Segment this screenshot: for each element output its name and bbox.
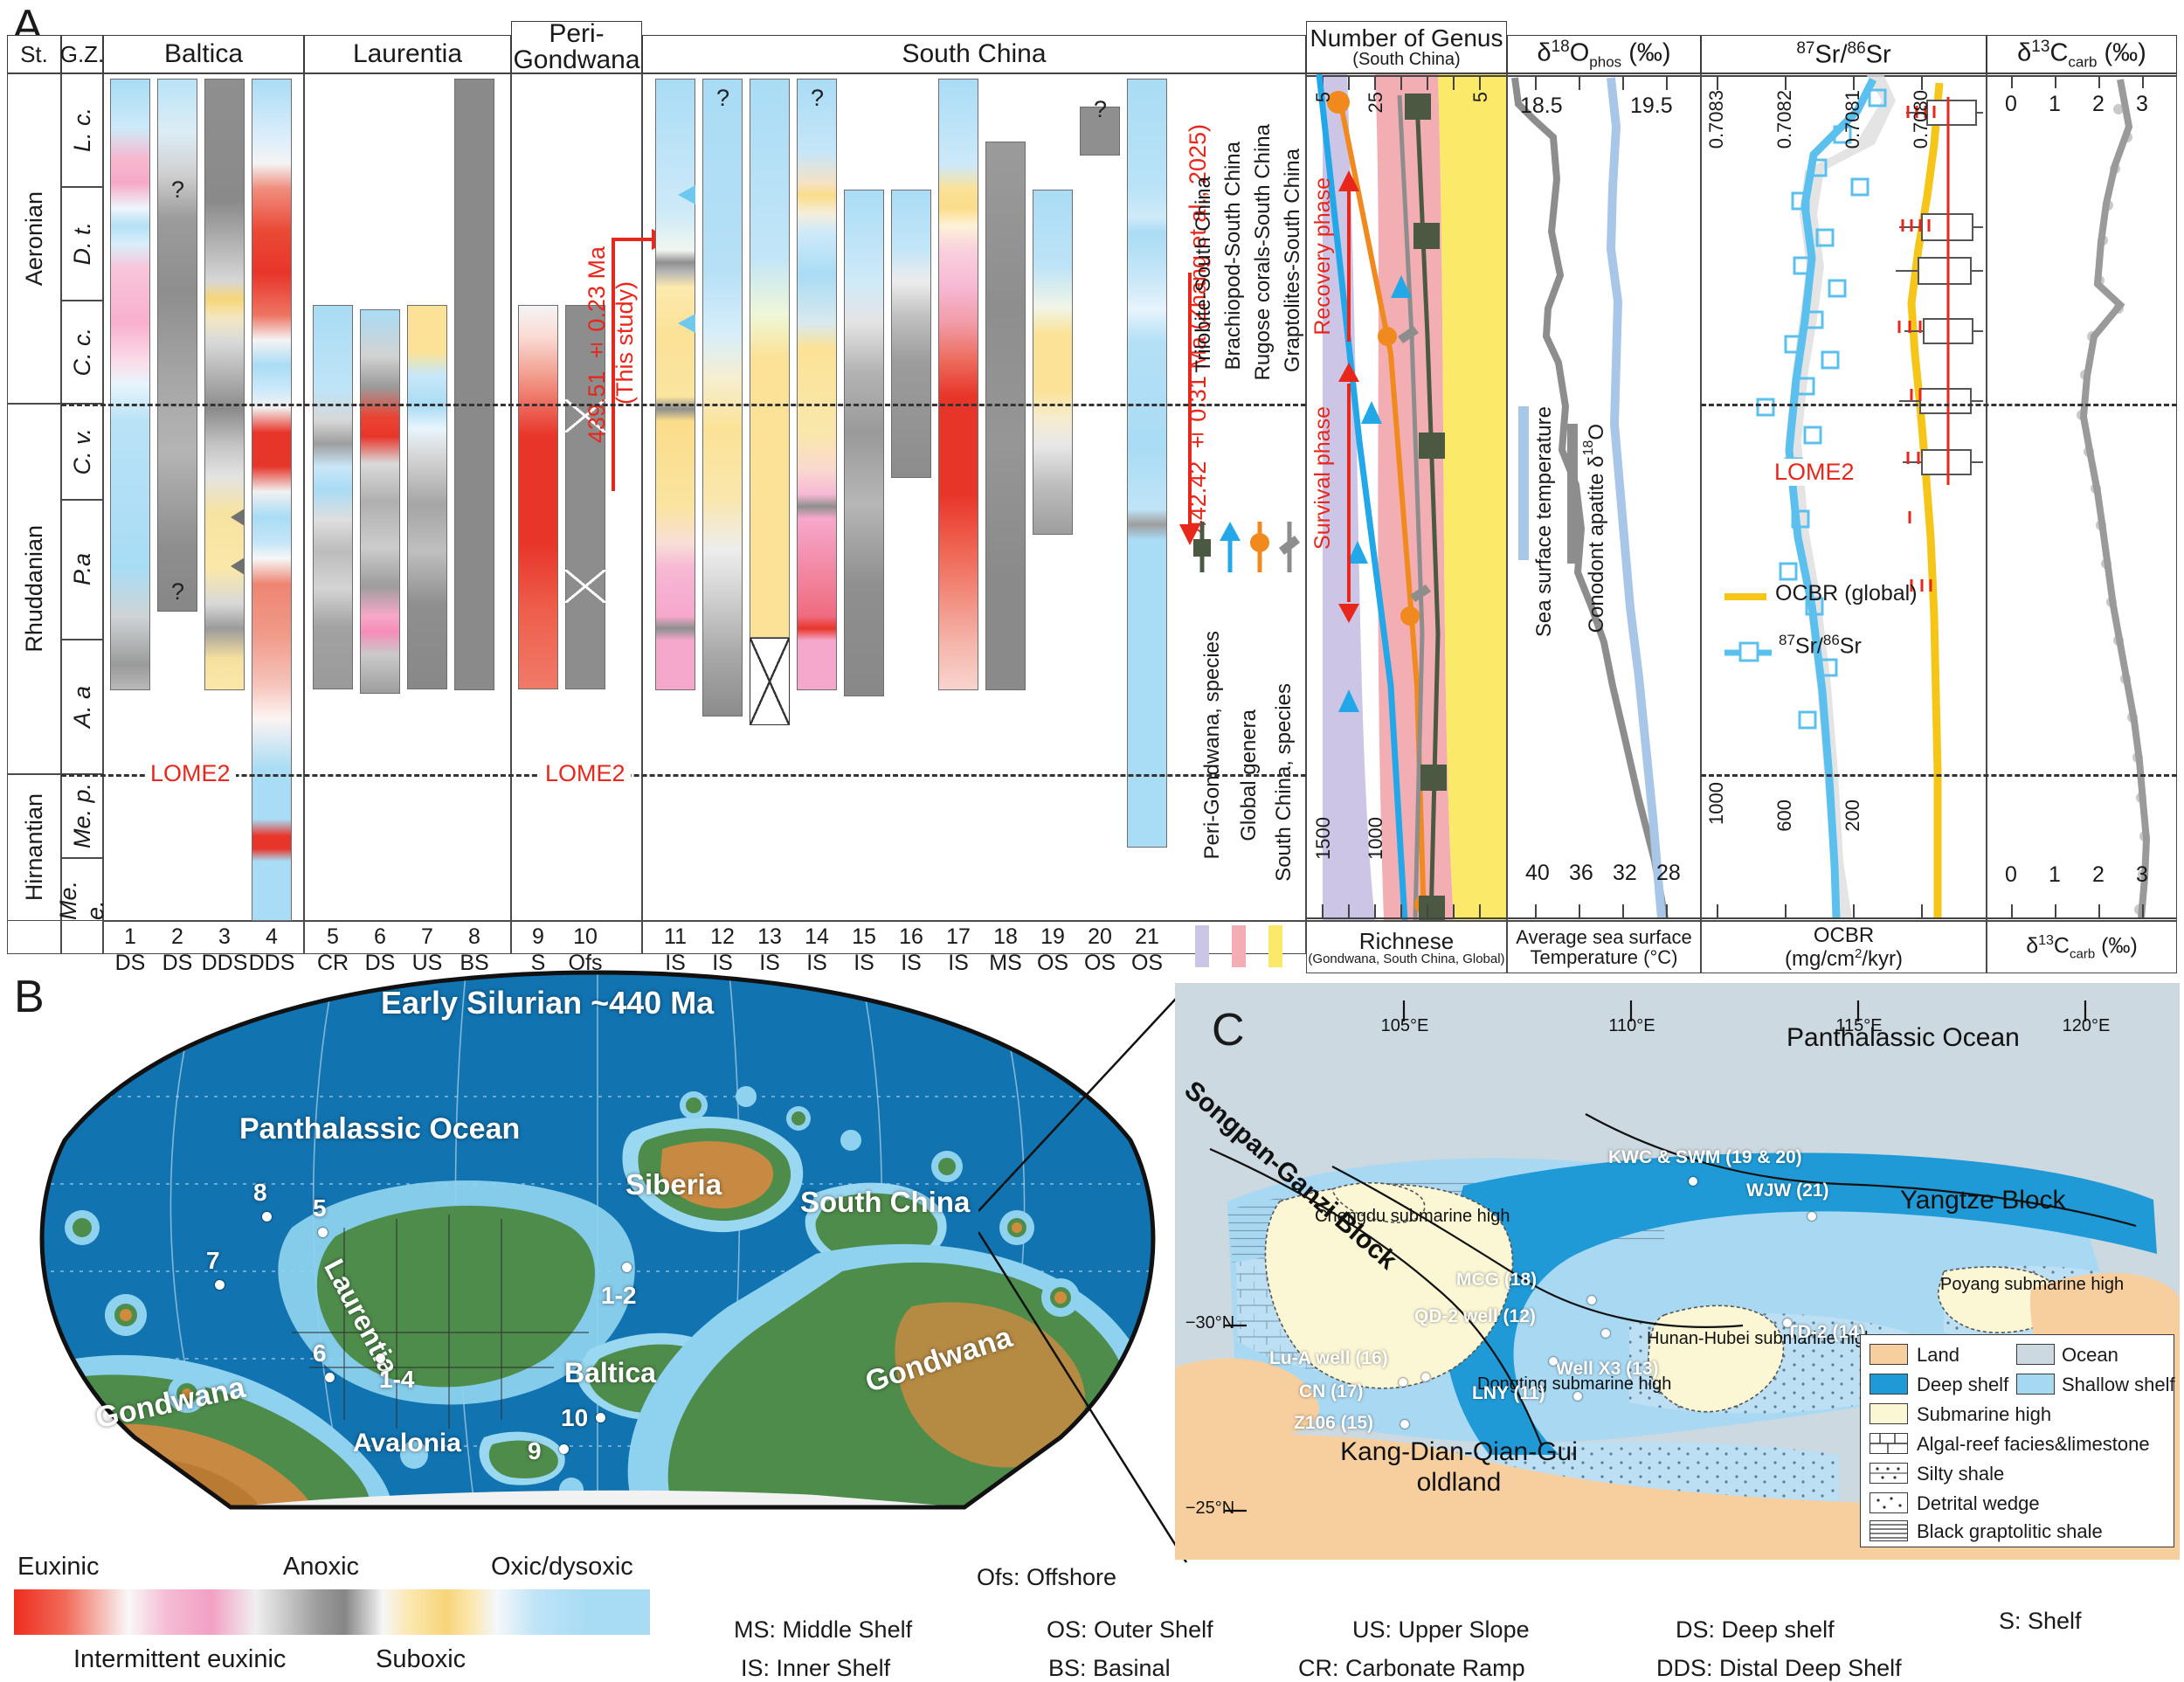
header-peri-gondwana-line2: Gondwana [513,47,639,73]
stage-cell-hirnantian: Hirnantian [7,774,61,921]
d13c-title-text: δ13Ccarb (‰) [2017,38,2146,71]
legend-swatch-ocean [2016,1344,2055,1365]
stage-label-aeronian: Aeronian [21,191,48,286]
strip-col-16 [891,190,931,478]
sr-tick-bottom-3: 200 [1842,799,1864,832]
strip-col-19 [1033,190,1073,535]
redox-legend-label-intermittent: Intermittent euxinic [73,1645,286,1674]
d13c-tick-top-4: 3 [2136,92,2148,117]
footer-abbrev-cr: CR: Carbonate Ramp [1298,1655,1525,1682]
strip-col-18 [985,142,1026,690]
panel-c-label: C [1212,1004,1245,1056]
legend-swatch-shallow-shelf [2016,1374,2055,1395]
site-label-wellx3: Well X3 (13) [1556,1359,1659,1380]
d13c-tick-bottom-2: 1 [2049,862,2061,888]
d18o-title-text: δ18Ophos (‰) [1537,38,1670,71]
map-label-avalonia: Avalonia [353,1429,461,1458]
map-site-number-1-4: 1-4 [379,1366,414,1394]
cross-marker-col13 [750,638,790,725]
d13c-chart: 0 1 2 3 0 1 2 3 [1987,74,2176,920]
d13c-tick-top-3: 2 [2092,92,2105,117]
zone-label-dt: D. t. [69,222,96,266]
legend-label-ocean: Ocean [2062,1344,2118,1367]
site-label-wjw: WJW (21) [1746,1180,1829,1201]
sr-tick-top-1: 0.7083 [1705,90,1728,149]
richness-band-swatch-global [1232,925,1246,967]
block-label-yangtze: Yangtze Block [1900,1186,2066,1215]
arrow-marker-col3-a [231,509,245,526]
genus-chart: 5 25 5 1500 1000 Recovery phase Survival… [1307,74,1506,920]
site-label-z106: Z106 (15) [1294,1413,1373,1434]
zone-cell-dt: D. t. [61,187,103,301]
column-number-19: 19 [1033,924,1073,950]
zone-cell-mee: Me. e. [61,858,103,921]
legend-label-algal-reef: Algal-reef facies&limestone [1917,1433,2150,1456]
cross-marker-col10-b [565,570,605,603]
sr-legend-swatch-ocbr [1724,593,1766,600]
map-label-siberia: Siberia [625,1168,722,1201]
zone-label-cc: C. c. [69,328,96,377]
column-number-20: 20 [1080,924,1120,950]
question-mark-col12: ? [716,85,729,112]
high-label-poyang: Poyang submarine high [1940,1275,2084,1295]
site-label-kwc-swm: KWC & SWM (19 & 20) [1608,1147,1802,1168]
lon-tick-120e: 120°E [2047,1016,2125,1036]
column-number-10: 10 [565,924,605,950]
legend-label-land: Land [1917,1344,1959,1367]
sr-tick-top-3: 0.7081 [1842,90,1864,149]
strip-col-11 [655,79,695,690]
map-label-panthalassic: Panthalassic Ocean [239,1112,520,1146]
sr-tick-bottom-1: 1000 [1705,782,1728,825]
column-number-15: 15 [844,924,884,950]
legend-swatch-land [1870,1344,1908,1365]
column-number-6: 6 [360,924,400,950]
strip-col-7 [407,305,447,689]
strip-col-5 [313,305,353,689]
genus-tick-top-2: 25 [1365,92,1387,113]
lome2-label-sr: LOME2 [1770,459,1859,486]
legend-swatch-black-graptolitic-shale [1870,1520,1908,1541]
high-label-hunan-hubei: Hunan-Hubei submarine high [1647,1329,1800,1349]
zone-cell-pa: P.a [61,500,103,640]
sr-legend-label-ocbr: OCBR (global) [1775,581,1918,606]
legend-label-black-graptolitic-shale: Black graptolitic shale [1917,1520,2103,1543]
d18o-tick-bottom-1: 40 [1525,861,1550,886]
trilobite-marker-icon [1190,522,1214,574]
recovery-phase-label: Recovery phase [1310,177,1336,336]
genus-tick-top-3: 5 [1469,92,1492,102]
map-site-number-7: 7 [206,1247,220,1275]
panel-a: A St. G.Z. Baltica Laurentia Peri- Gondw… [7,19,2177,954]
redox-legend-label-anoxic: Anoxic [283,1553,359,1582]
header-baltica: Baltica [103,35,304,73]
header-laurentia: Laurentia [304,35,511,73]
strip-col-12 [702,79,743,716]
legend-swatch-submarine-high [1870,1403,1908,1424]
column-number-9: 9 [518,924,558,950]
genus-tick-bottom-1: 1500 [1312,817,1335,860]
footer-abbrev-ds: DS: Deep shelf [1676,1616,1835,1644]
site-dot-cn [1399,1378,1407,1387]
footer-cell-richness: Richnese (Gondwana, South China, Global) [1306,921,1507,973]
strip-col-9 [518,305,558,689]
map-site-dot-1-4 [376,1353,385,1363]
legend-swatch-deep-shelf [1870,1374,1908,1395]
panel-c-legend: Land Ocean Deep shelf Shallow shelf Subm… [1860,1334,2174,1547]
zone-label-pa: P.a [69,553,96,585]
legend-swatch-algal-reef [1870,1433,1908,1454]
sr-legend-marker-icon [1724,640,1772,665]
temp-label-l2: Temperature (°C) [1531,947,1678,967]
footer-abbrev-bs: BS: Basinal [1048,1655,1171,1682]
triangle-marker-col11-b [678,314,695,333]
stage-cell-blank [7,921,61,954]
strip-col-14 [797,79,837,690]
d13c-footer-text: δ13Ccarb (‰) [2026,933,2138,961]
correlation-line-lome2-right [1701,774,2177,777]
site-dot-kwc-swm [1689,1177,1697,1186]
richness-band-label-perigondwana: Peri-Gondwana, species [1200,631,1225,859]
header-sr: 87Sr/86Sr [1701,35,1987,73]
survival-phase-arrow [1331,363,1366,625]
d18o-tick-top-1: 18.5 [1520,93,1563,119]
map-site-number-8: 8 [253,1179,267,1207]
genus-legend-label-rugose: Rugose corals-South China [1251,124,1275,381]
footer-offshore: Ofs: Offshore [977,1564,1116,1591]
d18o-legend-label-conodont: Conodont apatite δ18O [1581,424,1609,633]
strip-col-21 [1127,79,1167,848]
footer-cell-temperature: Average sea surface Temperature (°C) [1507,921,1701,973]
stage-cell-rhuddanian: Rhuddanian [7,404,61,774]
map-site-dot-7 [215,1280,225,1290]
sr-tick-top-2: 0.7082 [1773,90,1796,149]
strip-col-2 [157,79,197,612]
temp-label-l1: Average sea surface [1516,927,1691,947]
map-site-dot-1-2 [622,1263,632,1272]
legend-label-shallow-shelf: Shallow shelf [2062,1374,2175,1396]
correlation-line-cv [61,404,1306,406]
arrow-marker-col3-b [231,557,245,575]
footer-abbrev-is: IS: Inner Shelf [741,1655,890,1682]
sr-title-text: 87Sr/86Sr [1796,39,1890,70]
sr-tick-bottom-2: 600 [1773,799,1796,832]
richness-band-label-southchina: South China, species [1272,683,1296,882]
strip-col-4 [252,79,292,921]
map-label-baltica: Baltica [564,1357,656,1389]
brachiopod-marker-icon [1218,522,1242,574]
site-label-lny: LNY (11) [1472,1383,1545,1404]
strip-col-13 [750,79,790,638]
map-site-number-6: 6 [313,1339,327,1367]
age-label-this-study: 439.51 ± 0.23 Ma [584,246,611,443]
richness-band-swatch-perigondwana [1195,925,1209,967]
strip-col-8 [454,79,494,690]
question-mark-col14: ? [811,85,824,112]
zone-cell-blank [61,921,103,954]
redox-legend-label-oxic: Oxic/dysoxic [491,1553,633,1582]
lome2-label-baltica: LOME2 [145,760,236,787]
site-dot-lny [1573,1392,1582,1401]
survival-phase-label: Survival phase [1310,406,1336,550]
map-site-dot-10 [596,1413,605,1422]
column-number-11: 11 [655,924,695,950]
sr-tick-top-4: 0.7080 [1910,90,1932,149]
ocbr-label-l1: OCBR [1814,924,1874,946]
redox-color-bar [14,1589,650,1635]
graptolite-marker-icon [1277,522,1302,574]
zone-label-cv: C. v. [69,428,96,475]
lon-tick-105e: 105°E [1365,1016,1444,1036]
column-number-1: 1 [110,924,150,950]
site-label-mcg: MCG (18) [1456,1270,1537,1291]
map-site-number-5: 5 [313,1194,327,1222]
map-label-south-china: South China [800,1186,970,1219]
map-site-number-10: 10 [561,1404,588,1432]
lon-tick-110e: 110°E [1593,1016,1671,1036]
header-stage: St. [7,35,61,73]
d13c-tick-top-2: 1 [2049,92,2061,117]
site-label-cn: CN (17) [1299,1381,1364,1402]
site-dot-td2 [1783,1319,1792,1327]
column-number-8: 8 [454,924,494,950]
legend-swatch-silty-shale [1870,1463,1908,1484]
lat-tick-25n: −25°N [1168,1499,1252,1519]
legend-label-submarine-high: Submarine high [1917,1403,2051,1426]
header-d13c: δ13Ccarb (‰) [1987,35,2177,73]
question-mark-col20: ? [1094,96,1107,123]
header-d18o: δ18Ophos (‰) [1507,35,1701,73]
zone-cell-cv: C. v. [61,404,103,500]
genus-title: Number of Genus [1310,26,1503,51]
footer-abbrev-s: S: Shelf [1999,1608,2082,1635]
site-label-td2: TD-2 (14) [1787,1322,1865,1343]
map-site-number-9: 9 [528,1437,542,1465]
sr-legend-label-srsr: 87Sr/86Sr [1779,632,1862,659]
sr-chart: 0.7083 0.7082 0.7081 0.7080 1000 600 200… [1702,74,1986,920]
header-peri-gondwana: Peri- Gondwana [511,21,642,73]
column-number-13: 13 [750,924,790,950]
strip-col-6 [360,309,400,694]
map-site-dot-8 [262,1212,272,1222]
strip-col-1 [110,79,150,690]
column-number-5: 5 [313,924,353,950]
zone-label-mee: Me. e. [55,859,109,920]
footer-abbrev-os: OS: Outer Shelf [1047,1616,1213,1644]
column-number-18: 18 [985,924,1026,950]
column-number-3: 3 [204,924,245,950]
genus-legend-label-trilobite: Trilobite-South China [1192,177,1216,373]
site-dot-z106 [1400,1420,1409,1429]
d18o-legend-label-sst: Sea surface temperature [1532,406,1557,637]
d13c-tick-top-1: 0 [2005,92,2017,117]
legend-label-detrital-wedge: Detrital wedge [1917,1492,2040,1515]
question-mark-col2-bottom: ? [171,578,184,606]
footer-abbrev-ms: MS: Middle Shelf [734,1616,912,1644]
lat-tick-30n: −30°N [1168,1313,1252,1333]
footer-cell-d13c: δ13Ccarb (‰) [1987,921,2177,973]
richness-band-swatch-southchina [1268,925,1282,967]
column-number-4: 4 [252,924,292,950]
legend-label-silty-shale: Silty shale [1917,1463,2004,1485]
d18o-legend-swatch-conodont [1567,424,1578,564]
column-number-12: 12 [702,924,743,950]
zone-cell-lc: L. c. [61,73,103,187]
zone-cell-mep: Me. p. [61,774,103,858]
richness-label: Richnese [1359,930,1454,952]
column-number-2: 2 [157,924,197,950]
lome2-label-perigondwana: LOME2 [540,760,631,787]
column-number-17: 17 [938,924,978,950]
site-label-lu-a: Lu-A well (16) [1269,1348,1388,1369]
genus-tick-bottom-2: 1000 [1365,817,1387,860]
d13c-tick-bottom-3: 2 [2092,862,2105,888]
ocbr-label-l2: (mg/cm2/kyr) [1785,947,1903,970]
triangle-marker-col11-a [678,185,695,204]
block-label-kangdianqiangui: Kang-Dian-Qian-Gui oldland [1315,1437,1603,1498]
site-dot-qd2 [1601,1329,1610,1338]
d18o-tick-bottom-2: 36 [1569,861,1593,886]
site-dot-wjw [1807,1212,1816,1221]
legend-swatch-detrital-wedge [1870,1492,1908,1513]
header-south-china: South China [642,35,1306,73]
d18o-legend-swatch-sst [1518,406,1529,560]
genus-legend-label-brachiopod: Brachiopod-South China [1221,142,1246,370]
d18o-tick-bottom-3: 32 [1613,861,1637,886]
site-dot-wellx3 [1549,1357,1558,1366]
d13c-tick-bottom-1: 0 [2005,862,2017,888]
d18o-tick-bottom-4: 28 [1656,861,1681,886]
map-site-number-1-2: 1-2 [601,1282,636,1310]
site-label-qd2: QD-2 well (12) [1414,1306,1536,1327]
d13c-tick-bottom-4: 3 [2136,862,2148,888]
map-site-dot-9 [559,1444,569,1454]
redox-legend-label-suboxic: Suboxic [376,1645,466,1674]
footer-abbrev-us: US: Upper Slope [1352,1616,1530,1644]
d18o-tick-top-2: 19.5 [1630,93,1673,119]
column-number-7: 7 [407,924,447,950]
question-mark-col2-top: ? [171,177,184,204]
header-number-of-genus: Number of Genus (South China) [1306,21,1507,73]
block-label-panthalassic: Panthalassic Ocean [1787,1023,2020,1053]
footer-cell-ocbr: OCBR (mg/cm2/kyr) [1701,921,1987,973]
zone-label-mep: Me. p. [69,783,96,848]
map-site-dot-6 [325,1373,335,1382]
footer-abbrev-dds: DDS: Distal Deep Shelf [1656,1655,1902,1682]
redox-legend-label-euxinic: Euxinic [17,1553,100,1582]
genus-subtitle: (South China) [1352,51,1460,68]
stage-label-hirnantian: Hirnantian [21,793,48,901]
site-dot-mcg [1587,1296,1596,1305]
stage-label-rhuddanian: Rhuddanian [21,525,48,653]
high-label-chengdu: Chengdu submarine high [1315,1207,1481,1227]
map-site-dot-5 [318,1228,328,1237]
d18o-chart: 18.5 19.5 40 36 32 28 Sea surface temper… [1508,74,1700,920]
correlation-line-cv-right [1701,404,2177,406]
strip-col-17 [938,79,978,690]
column-number-14: 14 [797,924,837,950]
zone-cell-aa: A. a [61,640,103,774]
strip-col-15 [844,190,884,696]
rugose-coral-marker-icon [1248,522,1272,574]
panel-c: C 105°E 110°E 115°E 120°E −30°N −25°N So… [1175,983,2180,1560]
genus-tick-top-1: 5 [1312,92,1335,102]
site-dot-lu-a [1421,1373,1430,1381]
correlation-line-lome2 [61,774,1306,777]
recovery-phase-arrow [1331,170,1366,345]
zone-label-lc: L. c. [69,107,96,152]
stage-cell-aeronian: Aeronian [7,73,61,404]
header-peri-gondwana-line1: Peri- [549,21,604,47]
zone-cell-cc: C. c. [61,301,103,404]
richness-sublabel: (Gondwana, South China, Global) [1308,952,1504,966]
legend-label-deep-shelf: Deep shelf [1917,1374,2008,1396]
map-title-early-silurian: Early Silurian ~440 Ma [381,985,714,1021]
genus-legend-label-graptolites: Graptolites-South China [1281,149,1305,372]
zone-label-aa: A. a [69,686,96,728]
column-number-16: 16 [891,924,931,950]
age-sublabel-this-study: (This study) [612,281,639,405]
strip-col-3 [204,79,245,690]
header-graptolite-zone: G.Z. [61,35,103,73]
column-number-21: 21 [1127,924,1167,950]
genus-legend: Trilobite-South China Brachiopod-South C… [1188,124,1302,613]
